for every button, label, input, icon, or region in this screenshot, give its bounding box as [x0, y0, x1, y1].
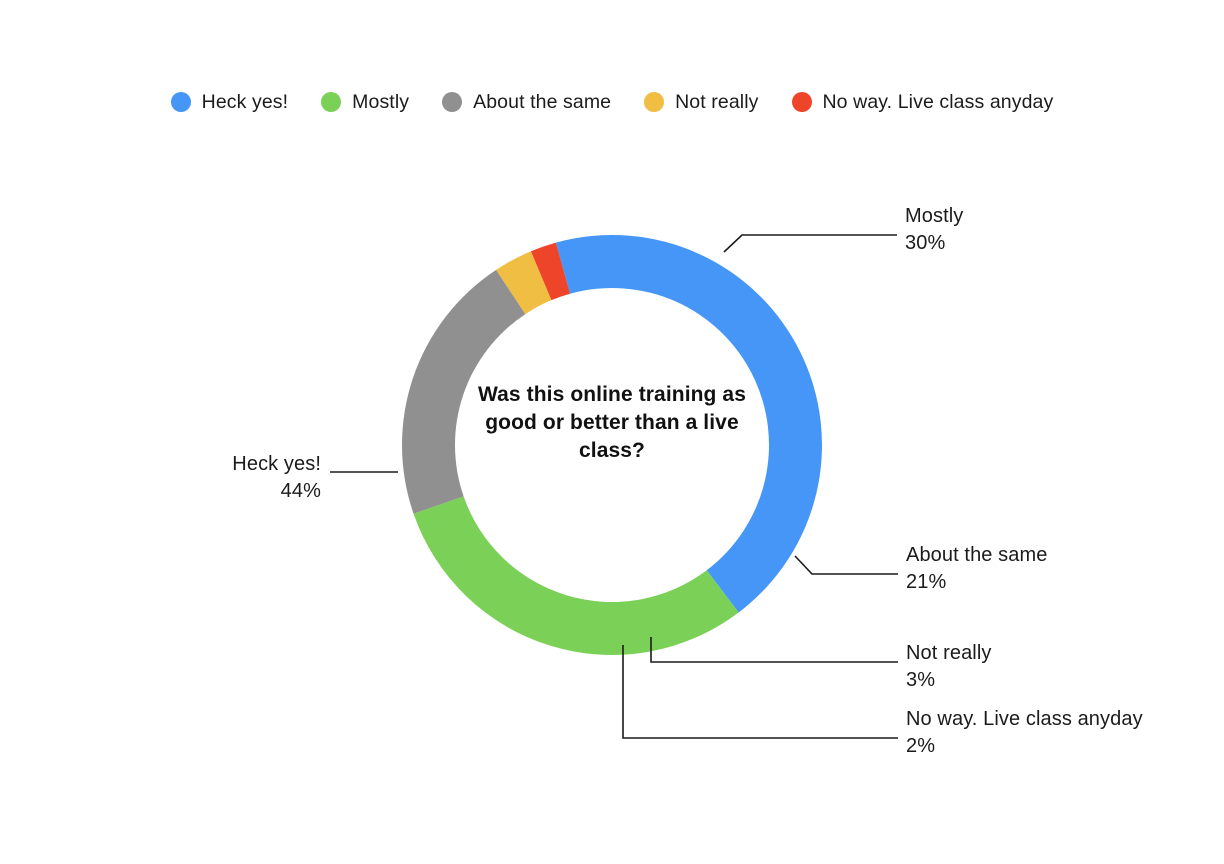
donut-slice-mostly[interactable]	[414, 496, 739, 655]
callout-heck-yes-label: Heck yes!	[49, 451, 321, 478]
callout-mostly-value: 30%	[905, 230, 963, 257]
callout-not-really-label: Not really	[906, 640, 991, 667]
callout-not-really-value: 3%	[906, 667, 991, 694]
callout-not-really: Not really 3%	[906, 640, 991, 694]
leader-line-no-way	[623, 645, 898, 738]
callout-heck-yes: Heck yes! 44%	[49, 451, 321, 505]
callout-mostly-label: Mostly	[905, 203, 963, 230]
leader-line-mostly	[724, 235, 897, 252]
callout-about-the-same: About the same 21%	[906, 542, 1048, 596]
donut-center-question: Was this online training as good or bett…	[462, 381, 762, 465]
center-question-line-1: Was this online	[478, 383, 633, 406]
center-question-line-3: better than a live class?	[570, 411, 739, 462]
callout-about-the-same-label: About the same	[906, 542, 1048, 569]
callout-no-way: No way. Live class anyday 2%	[906, 706, 1143, 760]
callout-heck-yes-value: 44%	[49, 478, 321, 505]
leader-line-about-the-same	[795, 556, 898, 574]
donut-chart-figure: Heck yes! Mostly About the same Not real…	[0, 0, 1224, 864]
callout-about-the-same-value: 21%	[906, 569, 1048, 596]
callout-no-way-label: No way. Live class anyday	[906, 706, 1143, 733]
leader-line-not-really	[651, 637, 898, 662]
callout-no-way-value: 2%	[906, 733, 1143, 760]
callout-mostly: Mostly 30%	[905, 203, 963, 257]
